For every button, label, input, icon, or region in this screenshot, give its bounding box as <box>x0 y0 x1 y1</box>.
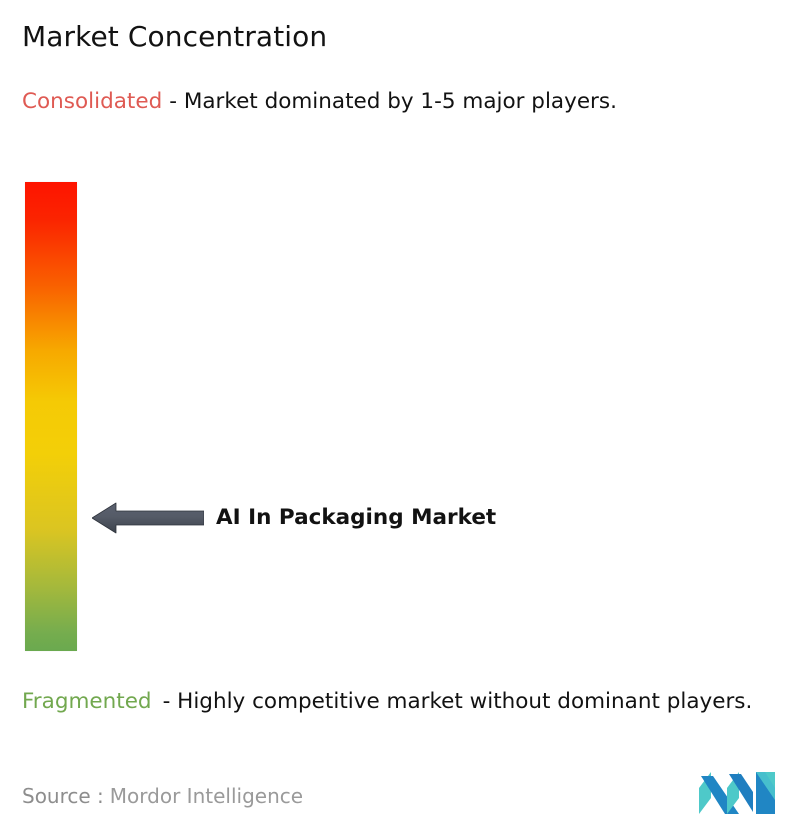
legend-fragmented-description: - Highly competitive market without domi… <box>163 689 753 714</box>
legend-consolidated-description: - Market dominated by 1-5 major players. <box>169 89 617 114</box>
legend-consolidated: Consolidated- Market dominated by 1-5 ma… <box>22 86 766 117</box>
page-title: Market Concentration <box>22 20 327 54</box>
mordor-intelligence-logo <box>699 770 777 814</box>
legend-fragmented: Fragmented- Highly competitive market wi… <box>22 686 788 717</box>
concentration-gradient-bar <box>25 182 77 651</box>
mi-monogram-icon <box>699 772 775 814</box>
source-label: Source : <box>22 784 104 808</box>
source-name: Mordor Intelligence <box>104 784 303 808</box>
left-arrow-icon <box>92 503 204 533</box>
legend-fragmented-term: Fragmented <box>22 689 152 714</box>
market-position-label: AI In Packaging Market <box>216 503 496 533</box>
market-position-arrow <box>92 501 204 535</box>
source-attribution: Source :Mordor Intelligence <box>22 782 303 810</box>
legend-consolidated-term: Consolidated <box>22 89 162 114</box>
chart-canvas: Market Concentration Consolidated- Marke… <box>0 0 796 834</box>
